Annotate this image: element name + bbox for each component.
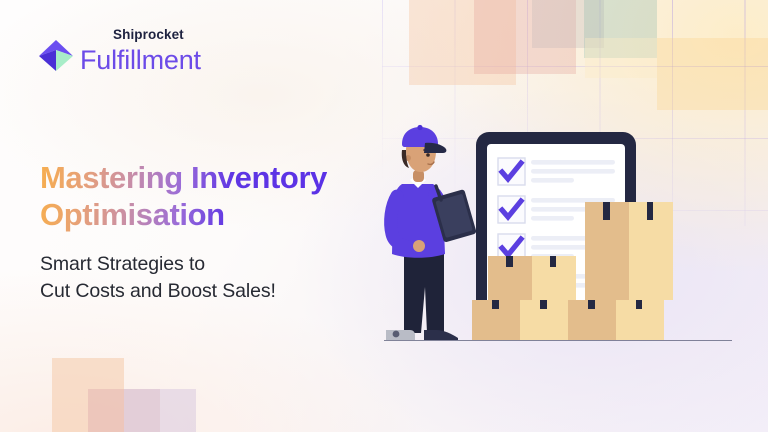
page-title: Mastering InventoryOptimisation	[40, 160, 327, 234]
decor-square-amber-top-secondary	[585, 38, 657, 78]
brand-name-top: Shiprocket	[113, 28, 201, 42]
decor-square-grey-top	[532, 0, 604, 48]
hero-illustration	[380, 120, 768, 350]
decor-square-peach-top	[409, 0, 516, 85]
decor-square-peach-bottom	[52, 358, 124, 432]
brand-logo[interactable]: Shiprocket Fulfillment	[38, 28, 201, 74]
warehouse-worker	[386, 125, 477, 340]
brand-wordmark: Shiprocket Fulfillment	[80, 28, 201, 74]
brand-name-bottom: Fulfillment	[80, 47, 201, 74]
decor-square-mint-top	[584, 0, 657, 58]
headline-line-1: Mastering Inventory	[40, 160, 327, 195]
decor-square-lavender-bottom	[124, 389, 196, 432]
shiprocket-arrow-mark-icon	[38, 38, 74, 72]
decor-square-rose-bottom	[88, 389, 160, 432]
decor-square-amber-top	[657, 38, 768, 110]
headline-line-2: Optimisation	[40, 197, 327, 234]
decor-square-rose-top	[474, 0, 576, 74]
promo-banner: Shiprocket Fulfillment Mastering Invento…	[0, 0, 768, 432]
